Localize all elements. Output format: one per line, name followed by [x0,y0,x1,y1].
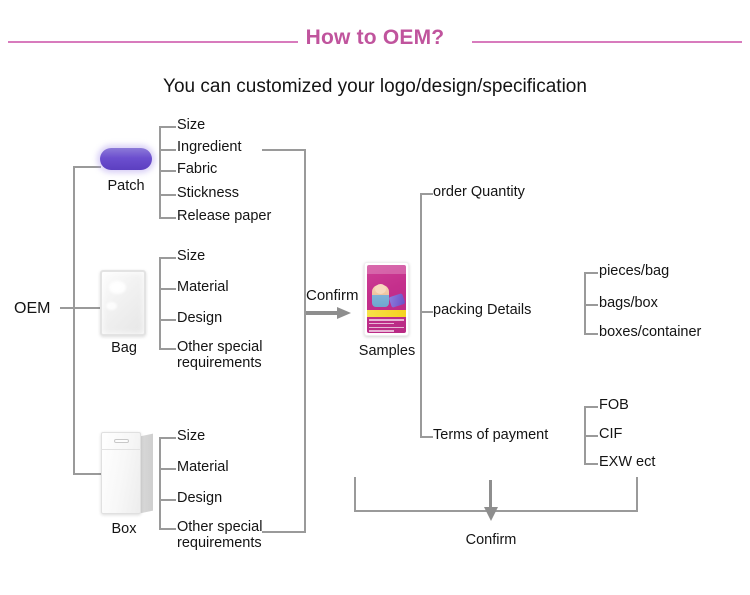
terms-item-fob: FOB [599,398,629,414]
bag-stub-0 [159,257,176,259]
terms-item-exw: EXW ect [599,455,655,471]
terms-item-cif: CIF [599,427,622,443]
packing-sub-stub-1 [584,304,598,306]
right-item-terms-of-payment: Terms of payment [433,428,548,444]
box-stub-3 [159,528,176,530]
box-stub-2 [159,499,176,501]
node-caption-patch: Patch [90,178,162,194]
terms-sub-stub-2 [584,463,598,465]
patch-item-release-paper: Release paper [177,209,271,225]
patch-item-fabric: Fabric [177,162,217,178]
packing-sub-stub-2 [584,333,598,335]
right-item-order-quantity: order Quantity [433,185,525,201]
collector-vline [304,149,306,532]
patch-stub-4 [159,217,176,219]
root-stub-box [73,473,103,475]
page-header: How to OEM? [0,10,750,52]
oem-flow-diagram: How to OEM? You can customized your logo… [0,0,750,595]
box-item-other: Other special requirements [177,520,277,552]
right-stub-1 [420,311,433,313]
packing-item-bags-box: bags/box [599,296,658,312]
bag-branch-vline [159,257,161,348]
confirm-step-label: Confirm [306,288,359,304]
box-product-image [101,432,159,514]
patch-item-ingredient: Ingredient [177,140,242,156]
node-caption-bag: Bag [88,340,160,356]
final-confirm-label: Confirm [441,532,541,548]
page-title: How to OEM? [0,26,750,50]
packing-sub-stub-0 [584,272,598,274]
collector-bottom-hline [262,531,306,533]
right-item-packing-details: packing Details [433,303,531,319]
bag-stub-1 [159,288,176,290]
final-confirm-arrow-icon [484,480,498,522]
node-caption-box: Box [88,521,160,537]
bag-product-image [100,270,146,336]
patch-product-image [100,148,152,170]
right-stub-0 [420,193,433,195]
patch-stub-2 [159,170,176,172]
final-bracket-right-vline [636,477,638,511]
patch-stub-3 [159,194,176,196]
box-item-size: Size [177,429,205,445]
terms-sub-stub-1 [584,435,598,437]
bag-stub-3 [159,348,176,350]
box-item-design: Design [177,491,222,507]
box-stub-1 [159,468,176,470]
packing-sub-vline [584,272,586,334]
patch-stub-0 [159,126,176,128]
right-stub-2 [420,436,433,438]
packing-item-pieces-bag: pieces/bag [599,264,669,280]
patch-item-stickness: Stickness [177,186,239,202]
box-stub-0 [159,437,176,439]
root-stub-patch [73,166,101,168]
patch-branch-vline [159,126,161,218]
node-caption-samples: Samples [348,343,426,359]
final-bracket-left-vline [354,477,356,511]
patch-item-size: Size [177,118,205,134]
root-stub-oem [60,307,74,309]
root-stub-bag [73,307,101,309]
patch-stub-1 [159,149,176,151]
right-spine-vline [420,193,422,437]
confirm-arrow-icon [306,307,352,319]
bag-item-material: Material [177,280,229,296]
box-branch-vline [159,437,161,528]
bag-item-other: Other special requirements [177,340,277,372]
subtitle: You can customized your logo/design/spec… [0,76,750,98]
packing-item-boxes-container: boxes/container [599,325,701,341]
bag-item-design: Design [177,311,222,327]
terms-sub-stub-0 [584,406,598,408]
bag-item-size: Size [177,249,205,265]
bag-stub-2 [159,319,176,321]
collector-top-hline [262,149,306,151]
root-trunk-vline [73,166,75,474]
samples-product-image [364,262,409,336]
box-item-material: Material [177,460,229,476]
root-label-oem: OEM [14,300,50,317]
